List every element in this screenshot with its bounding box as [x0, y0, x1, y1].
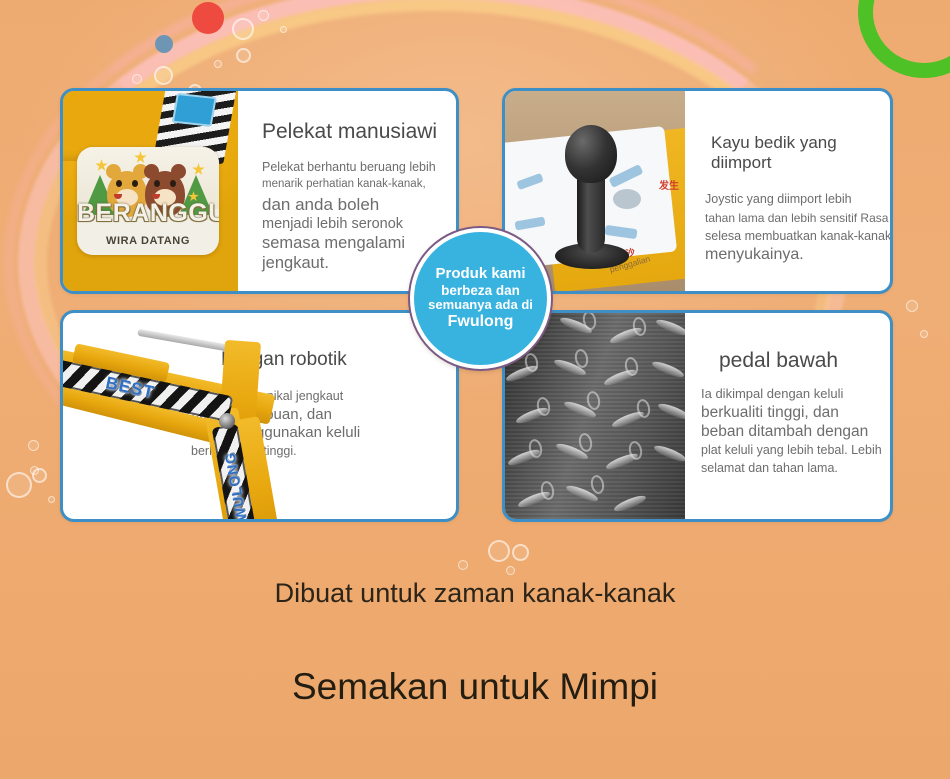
footer-heading-secondary: Semakan untuk Mimpi	[0, 666, 950, 708]
feature-card-robotic-arm[interactable]: BEST FWULONG Lengan robotik Lengan mekan…	[60, 310, 459, 522]
card-body-line: tahan lama dan lebih sensitif Rasa	[705, 209, 891, 227]
bubble-icon	[258, 10, 269, 21]
card-body-line: Ia dikimpal dengan keluli	[701, 385, 882, 404]
card-body-line: Pelekat berhantu beruang lebih	[262, 158, 446, 176]
bubble-icon	[32, 468, 47, 483]
card-body-line: selesa membuatkan kanak-kanak	[705, 227, 891, 245]
panel-label-cn-small: 发生	[659, 177, 679, 192]
card-body-line: menjadi lebih seronok	[262, 216, 446, 233]
joystick-knob	[565, 125, 617, 183]
card-body-line: Joystic yang diimport lebih	[705, 190, 891, 209]
bubble-icon	[6, 472, 32, 498]
card-body-line: semasa mengalami	[262, 233, 446, 254]
card-body: Joystic yang diimport lebih tahan lama d…	[705, 190, 891, 266]
card-body-line: selamat dan tahan lama.	[701, 459, 882, 477]
card-text-bottom-pedal: pedal bawah Ia dikimpal dengan keluli be…	[685, 313, 892, 519]
badge-line: semuanya ada di	[428, 298, 533, 313]
bubble-icon	[236, 48, 251, 63]
center-brand-badge: Produk kami berbeza dan semuanya ada di …	[410, 228, 551, 369]
sticker-brand-name: BERANGGU	[77, 199, 219, 228]
card-body-line: plat keluli yang lebih tebal. Lebih	[701, 441, 882, 459]
bubble-icon	[232, 18, 254, 40]
footer-heading-primary: Dibuat untuk zaman kanak-kanak	[0, 578, 950, 609]
card-body-line: dan anda boleh	[262, 194, 446, 216]
bubble-icon	[30, 466, 39, 475]
card-body-line: beban ditambah dengan	[701, 423, 882, 442]
badge-line: Fwulong	[448, 313, 514, 331]
bubble-icon	[48, 496, 55, 503]
sticker-subtitle: WIRA DATANG	[77, 235, 219, 247]
bubble-icon	[906, 300, 918, 312]
feature-card-human-sticker[interactable]: BERANGGU WIRA DATANG Pelekat manusiawi P…	[60, 88, 459, 294]
bear-sticker: BERANGGU WIRA DATANG	[77, 147, 219, 255]
bubble-icon	[458, 560, 468, 570]
bubble-icon	[154, 66, 173, 85]
blue-circle-dot	[155, 35, 173, 53]
red-circle-dot	[192, 2, 224, 34]
bubble-icon	[920, 330, 928, 338]
infographic-page: BERANGGU WIRA DATANG Pelekat manusiawi P…	[0, 0, 950, 779]
badge-line: berbeza dan	[441, 283, 520, 298]
excavator-bucket-icon	[613, 189, 641, 209]
card-photo-human-sticker: BERANGGU WIRA DATANG	[63, 91, 238, 291]
bubble-icon	[512, 544, 529, 561]
bubble-icon	[488, 540, 510, 562]
badge-line: Produk kami	[435, 266, 525, 283]
card-body: Pelekat berhantu beruang lebih menarik p…	[262, 158, 446, 273]
card-title: pedal bawah	[719, 349, 882, 373]
card-body-line: berkualiti tinggi, dan	[701, 404, 882, 423]
card-photo-robotic-arm: BEST FWULONG	[63, 313, 313, 519]
bubble-icon	[506, 566, 515, 575]
card-title: Kayu bedik yang diimport	[711, 133, 891, 172]
bubble-icon	[214, 60, 222, 68]
card-text-joystick: Kayu bedik yang diimport Joystic yang di…	[685, 91, 893, 291]
card-body-line: menyukainya.	[705, 245, 891, 266]
card-title: Pelekat manusiawi	[262, 120, 446, 144]
card-body-line: menarik perhatian kanak-kanak,	[262, 176, 446, 193]
hydraulic-cylinder	[137, 329, 233, 353]
pivot-bolt-icon	[219, 413, 235, 429]
bubble-icon	[280, 26, 287, 33]
feature-card-imported-joystick[interactable]: 发生 挖沙 penggalian Kayu bedik yang diimpor…	[502, 88, 893, 294]
green-ring-icon	[858, 0, 950, 78]
bubble-icon	[28, 440, 39, 451]
bubble-icon	[132, 74, 142, 84]
card-body: Ia dikimpal dengan keluli berkualiti tin…	[701, 385, 882, 477]
feature-card-bottom-pedal[interactable]: pedal bawah Ia dikimpal dengan keluli be…	[502, 310, 893, 522]
card-text-robotic-arm: BEST FWULONG Lengan robotik Lengan mekan…	[63, 313, 456, 519]
